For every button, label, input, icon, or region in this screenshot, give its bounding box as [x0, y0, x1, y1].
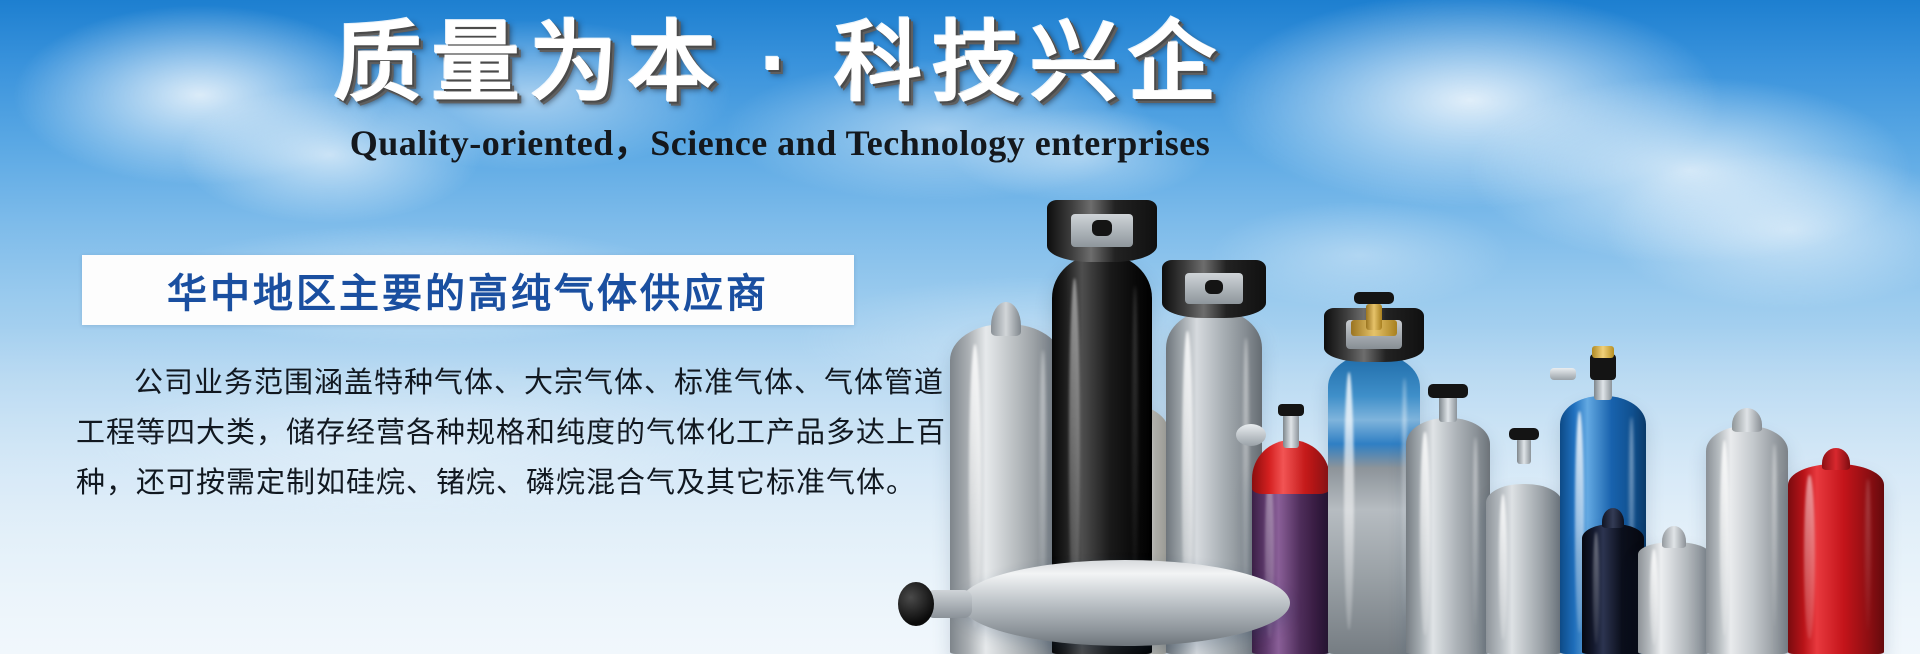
body-paragraph: 公司业务范围涵盖特种气体、大宗气体、标准气体、气体管道 工程等四大类，储存经营各…: [76, 358, 876, 508]
cylinder-neck: [1662, 526, 1686, 548]
body-line: 公司业务范围涵盖特种气体、大宗气体、标准气体、气体管道: [76, 358, 876, 408]
valve-knob-icon: [1092, 220, 1112, 236]
dark-navy-cylinder: [1582, 506, 1644, 654]
cylinder-shoulder: [1252, 440, 1330, 494]
cylinder-neck: [991, 302, 1021, 336]
highlight-box: 华中地区主要的高纯气体供应商: [82, 255, 854, 325]
brass-valve-stem: [1366, 304, 1382, 330]
valve-handwheel-icon: [1428, 384, 1468, 398]
gray-valve-cylinder: [1406, 384, 1490, 654]
valve-knob-icon: [1205, 280, 1223, 294]
lying-cylinder-body: [960, 560, 1290, 646]
green-cylinder: [1486, 458, 1562, 654]
cylinder-neck: [1602, 508, 1624, 528]
valve-outlet-icon: [1550, 368, 1576, 380]
lying-cylinder-valve-knob-icon: [898, 582, 934, 626]
cylinder-shoulder: [1486, 458, 1562, 514]
valve-stem: [1517, 438, 1531, 464]
small-aluminum-cylinder: [1638, 526, 1710, 654]
body-line: 工程等四大类，储存经营各种规格和纯度的气体化工产品多达上百: [76, 408, 876, 458]
valve-stem: [1439, 394, 1457, 422]
cylinder-neck: [1732, 408, 1762, 432]
red-cylinder: [1788, 442, 1884, 654]
body-line: 种，还可按需定制如硅烷、锗烷、磷烷混合气及其它标准气体。: [76, 458, 876, 508]
valve-cap-icon: [1592, 346, 1614, 358]
valve-stem: [1283, 414, 1299, 448]
gas-cylinder-group: [940, 0, 1920, 654]
valve-knob-icon: [1354, 292, 1394, 304]
pressure-gauge-icon: [1236, 424, 1266, 446]
lying-silver-cylinder: [960, 560, 1290, 646]
silver-aluminum-cylinder: [1706, 406, 1788, 654]
cylinder-neck: [1822, 448, 1850, 470]
gas-company-banner: 质量为本 · 科技兴企 Quality-oriented，Science and…: [0, 0, 1920, 654]
valve-knob-icon: [1509, 428, 1539, 440]
valve-knob-icon: [1278, 404, 1304, 416]
highlight-box-text: 华中地区主要的高纯气体供应商: [167, 261, 769, 319]
